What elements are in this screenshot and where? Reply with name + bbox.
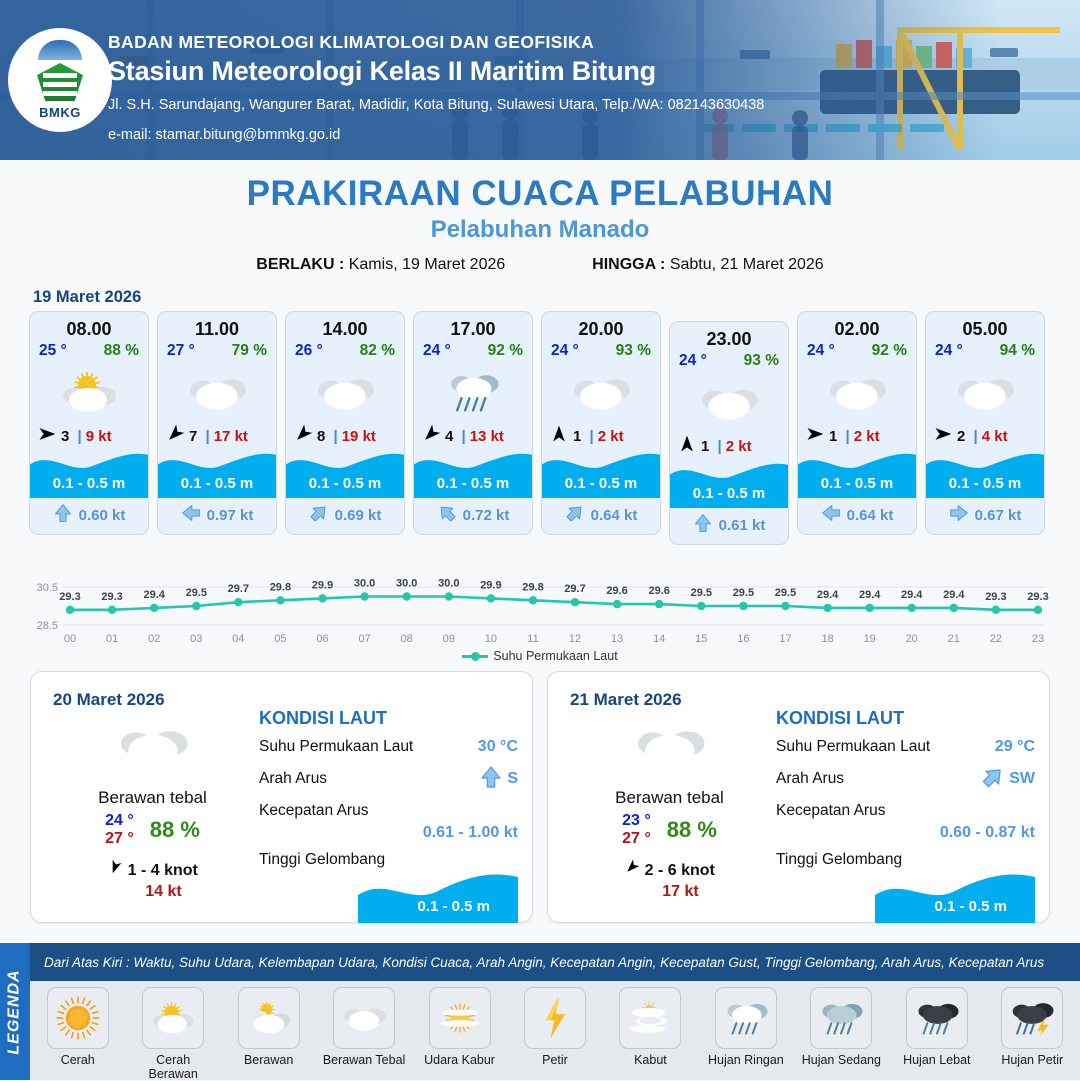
- card-gust: 2 kt: [726, 438, 752, 455]
- card-wave-height: 0.1 - 0.5 m: [926, 475, 1044, 492]
- svg-text:29.9: 29.9: [480, 579, 501, 591]
- southwest-arrow-icon: [309, 503, 329, 523]
- card-temperature: 25 °: [39, 342, 67, 360]
- card-humidity: 93 %: [744, 352, 779, 370]
- card-wind-row: 1 | 2 kt: [542, 422, 660, 452]
- legend-item-label: Udara Kabur: [417, 1053, 503, 1067]
- header-organization: BADAN METEOROLOGI KLIMATOLOGI DAN GEOFIS…: [108, 32, 764, 53]
- svg-text:29.6: 29.6: [648, 585, 669, 597]
- right-arrow-icon: [181, 503, 201, 527]
- daily-wave-label: Tinggi Gelombang: [259, 851, 385, 869]
- forecast-card[interactable]: 14.00 26 ° 82 % 8 | 19 kt 0.1 - 0.5 m: [285, 311, 405, 535]
- daily-date: 21 Maret 2026: [570, 690, 682, 710]
- daily-wave-box: 0.1 - 0.5 m: [776, 871, 1035, 923]
- svg-text:13: 13: [611, 633, 623, 645]
- daily-current-dir-row: Arah Arus S: [259, 765, 518, 793]
- card-wind-speed: 3: [61, 428, 69, 445]
- daily-current-dir-value-group: S: [479, 765, 518, 793]
- card-current-row: 0.69 kt: [286, 498, 404, 534]
- card-current-speed: 0.64 kt: [591, 507, 638, 524]
- card-wind-row: 1 | 2 kt: [798, 422, 916, 452]
- daily-sea-block: KONDISI LAUT Suhu Permukaan Laut 29 °C A…: [776, 708, 1035, 923]
- svg-text:29.3: 29.3: [985, 591, 1006, 603]
- card-temp-humidity: 26 ° 82 %: [286, 340, 404, 360]
- logo-label: BMKG: [39, 105, 81, 120]
- left-arrow-icon: [949, 503, 969, 523]
- legend-item-label: Hujan Sedang: [798, 1053, 884, 1067]
- north-arrow-icon: [677, 434, 697, 454]
- validity-row: BERLAKU : Kamis, 19 Maret 2026 HINGGA : …: [0, 256, 1080, 274]
- card-wind-separator: |: [201, 428, 209, 445]
- svg-text:15: 15: [695, 633, 707, 645]
- svg-text:08: 08: [401, 633, 413, 645]
- legend-item[interactable]: Hujan Ringan: [703, 987, 789, 1067]
- cloud-shape-icon: [954, 370, 1016, 414]
- card-temp-humidity: 24 ° 93 %: [670, 350, 788, 370]
- svg-text:29.5: 29.5: [691, 587, 712, 599]
- southeast-arrow-icon: [437, 503, 457, 527]
- card-current-row: 0.64 kt: [798, 498, 916, 534]
- legend-item-label: Petir: [512, 1053, 598, 1067]
- card-time: 02.00: [798, 312, 916, 340]
- svg-text:29.9: 29.9: [312, 579, 333, 591]
- card-current-speed: 0.67 kt: [975, 507, 1022, 524]
- valid-until-label: HINGGA :: [592, 256, 665, 273]
- sun-clouds-shape-icon: [246, 995, 292, 1041]
- daily-current-speed-value: 0.60 - 0.87 kt: [776, 824, 1035, 842]
- down-arrow-icon: [479, 765, 503, 793]
- svg-text:17: 17: [779, 633, 791, 645]
- forecast-card[interactable]: 02.00 24 ° 92 % 1 | 2 kt 0.1 - 0.5 m: [797, 311, 917, 535]
- svg-text:07: 07: [358, 633, 370, 645]
- daily-temp-column: 23 ° 27 °: [622, 812, 651, 849]
- legend-item-label: Berawan: [226, 1053, 312, 1067]
- chart-legend-marker-icon: [462, 655, 488, 658]
- card-temp-humidity: 27 ° 79 %: [158, 340, 276, 360]
- cloud-icon: [670, 372, 788, 432]
- svg-text:09: 09: [443, 633, 455, 645]
- svg-text:29.3: 29.3: [101, 591, 122, 603]
- daily-sst-row: Suhu Permukaan Laut 29 °C: [776, 738, 1035, 756]
- daily-temp-humidity: 24 ° 27 ° 88 %: [45, 812, 260, 849]
- daily-wind-range: 1 - 4 knot: [128, 862, 198, 879]
- card-wave-height: 0.1 - 0.5 m: [158, 475, 276, 492]
- daily-wave-row: Tinggi Gelombang: [776, 851, 1035, 869]
- card-current-row: 0.97 kt: [158, 498, 276, 534]
- svg-text:29.5: 29.5: [186, 587, 207, 599]
- card-temperature: 24 °: [423, 342, 451, 360]
- daily-sst-value: 29 °C: [995, 738, 1035, 756]
- cloud-shape-icon: [314, 370, 376, 414]
- daily-sst-label: Suhu Permukaan Laut: [259, 738, 413, 756]
- svg-text:29.4: 29.4: [817, 589, 839, 601]
- valid-from-label: BERLAKU :: [256, 256, 344, 273]
- card-time: 14.00: [286, 312, 404, 340]
- southwest-arrow-icon: [565, 503, 585, 527]
- east-arrow-icon: [933, 424, 953, 448]
- card-temp-humidity: 25 ° 88 %: [30, 340, 148, 360]
- east-arrow-icon: [805, 424, 825, 444]
- header-text-block: BADAN METEOROLOGI KLIMATOLOGI DAN GEOFIS…: [108, 32, 764, 147]
- lightning-icon: [524, 987, 586, 1049]
- daily-summary-row: 20 Maret 2026 Berawan tebal 24 ° 27 ° 88…: [0, 663, 1080, 923]
- right-arrow-icon: [181, 503, 201, 523]
- sst-chart: 30.528.529.30029.30129.40229.50329.70429…: [18, 557, 1062, 647]
- card-wind-separator: |: [841, 428, 849, 445]
- card-humidity: 79 %: [232, 342, 267, 360]
- card-wind-separator: |: [73, 428, 81, 445]
- daily-current-speed-row: Kecepatan Arus: [259, 802, 518, 820]
- chart-legend: Suhu Permukaan Laut: [0, 649, 1080, 663]
- card-wind-separator: |: [585, 428, 593, 445]
- rain-light-icon: [715, 987, 777, 1049]
- svg-text:18: 18: [821, 633, 833, 645]
- daily-humidity: 88 %: [667, 817, 717, 843]
- svg-text:11: 11: [527, 633, 538, 645]
- daily-sea-title: KONDISI LAUT: [776, 708, 1035, 729]
- legend-item[interactable]: Petir: [512, 987, 598, 1067]
- card-wave-box: 0.1 - 0.5 m: [798, 450, 916, 498]
- down-arrow-icon: [53, 503, 73, 523]
- legend-side-banner: LEGENDA: [0, 943, 30, 1080]
- legend-item[interactable]: Hujan Petir: [989, 987, 1075, 1067]
- card-gust: 9 kt: [86, 428, 112, 445]
- page-title: PRAKIRAAN CUACA PELABUHAN: [0, 174, 1080, 214]
- cloud-shape-icon: [341, 995, 387, 1041]
- svg-text:06: 06: [316, 633, 328, 645]
- sun-cloud-shape-icon: [150, 995, 196, 1041]
- legend-section: LEGENDA Dari Atas Kiri : Waktu, Suhu Uda…: [0, 943, 1080, 1080]
- card-wind-row: 8 | 19 kt: [286, 422, 404, 452]
- rain-heavy-shape-icon: [914, 995, 960, 1041]
- wave-shape-icon: [875, 871, 1035, 923]
- svg-text:20: 20: [906, 633, 918, 645]
- svg-text:30.5: 30.5: [37, 582, 58, 594]
- forecast-card[interactable]: 20.00 24 ° 93 % 1 | 2 kt 0.1 - 0.5 m: [541, 311, 661, 535]
- southwest-arrow-icon: [421, 424, 441, 448]
- svg-text:10: 10: [485, 633, 497, 645]
- daily-temp-column: 24 ° 27 °: [105, 812, 134, 849]
- card-current-speed: 0.72 kt: [463, 507, 510, 524]
- card-time: 11.00: [158, 312, 276, 340]
- forecast-card[interactable]: 23.00 24 ° 93 % 1 | 2 kt 0.1 - 0.5 m: [669, 321, 789, 545]
- daily-wave-row: Tinggi Gelombang: [259, 851, 518, 869]
- card-humidity: 94 %: [1000, 342, 1035, 360]
- legend-item[interactable]: Berawan Tebal: [321, 987, 407, 1067]
- daily-temp-max: 27 °: [622, 830, 651, 848]
- header-station-name: Stasiun Meteorologi Kelas II Maritim Bit…: [108, 56, 764, 87]
- haze-icon: [429, 987, 491, 1049]
- daily-wind-range: 2 - 6 knot: [645, 862, 715, 879]
- svg-text:30.0: 30.0: [354, 578, 375, 590]
- southwest-arrow-icon: [107, 860, 123, 879]
- legend-item-label: Cerah: [35, 1053, 121, 1067]
- legend-item[interactable]: Berawan: [226, 987, 312, 1067]
- cloud-icon: [158, 362, 276, 422]
- card-humidity: 92 %: [488, 342, 523, 360]
- down-arrow-icon: [53, 503, 73, 527]
- daily-wind-row: 1 - 4 knot: [45, 859, 260, 880]
- card-wind-row: 3 | 9 kt: [30, 422, 148, 452]
- card-current-speed: 0.60 kt: [79, 507, 126, 524]
- rain-light-shape-icon: [442, 370, 504, 414]
- daily-temp-min: 23 °: [622, 812, 651, 830]
- card-wind-separator: |: [329, 428, 337, 445]
- cloud-shape-icon: [570, 370, 632, 414]
- southwest-arrow-icon: [309, 503, 329, 527]
- card-wave-height: 0.1 - 0.5 m: [670, 485, 788, 502]
- daily-temp-humidity: 23 ° 27 ° 88 %: [562, 812, 777, 849]
- title-block: PRAKIRAAN CUACA PELABUHAN Pelabuhan Mana…: [0, 174, 1080, 274]
- lightning-shape-icon: [532, 995, 578, 1041]
- card-current-speed: 0.61 kt: [719, 517, 766, 534]
- daily-condition: Berawan tebal: [562, 788, 777, 808]
- sun-clouds-icon: [238, 987, 300, 1049]
- card-wave-height: 0.1 - 0.5 m: [542, 475, 660, 492]
- card-wind-row: 7 | 17 kt: [158, 422, 276, 452]
- daily-current-speed-value: 0.61 - 1.00 kt: [259, 824, 518, 842]
- southwest-arrow-icon: [165, 424, 185, 448]
- daily-current-speed-label: Kecepatan Arus: [259, 802, 368, 820]
- svg-text:29.6: 29.6: [606, 585, 627, 597]
- card-current-speed: 0.64 kt: [847, 507, 894, 524]
- card-wave-height: 0.1 - 0.5 m: [286, 475, 404, 492]
- card-wave-height: 0.1 - 0.5 m: [798, 475, 916, 492]
- card-temperature: 24 °: [679, 352, 707, 370]
- legend-item-label: Kabut: [607, 1053, 693, 1067]
- card-wind-speed: 2: [957, 428, 965, 445]
- svg-text:29.8: 29.8: [522, 581, 543, 593]
- svg-text:12: 12: [569, 633, 581, 645]
- daily-current-speed-label: Kecepatan Arus: [776, 802, 885, 820]
- left-arrow-icon: [949, 503, 969, 527]
- forecast-card[interactable]: 17.00 24 ° 92 % 4 | 13 kt 0.1 - 0.5 m: [413, 311, 533, 535]
- card-current-row: 0.67 kt: [926, 498, 1044, 534]
- east-arrow-icon: [805, 424, 825, 448]
- bmkg-logo: BMKG: [8, 28, 112, 132]
- card-current-row: 0.72 kt: [414, 498, 532, 534]
- card-time: 23.00: [670, 322, 788, 350]
- card-gust: 17 kt: [214, 428, 248, 445]
- southwest-arrow-icon: [107, 859, 123, 875]
- wave-shape-icon: [358, 871, 518, 923]
- cloud-thick-icon: [562, 720, 777, 772]
- rain-moderate-icon: [810, 987, 872, 1049]
- card-temperature: 24 °: [551, 342, 579, 360]
- card-current-row: 0.64 kt: [542, 498, 660, 534]
- daily-current-dir-label: Arah Arus: [259, 770, 327, 788]
- valid-until-value: Sabtu, 21 Maret 2026: [670, 256, 824, 273]
- southwest-arrow-icon: [293, 424, 313, 448]
- southwest-arrow-icon: [165, 424, 185, 444]
- east-arrow-icon: [933, 424, 953, 444]
- svg-text:16: 16: [737, 633, 749, 645]
- svg-text:14: 14: [653, 633, 665, 645]
- down-arrow-icon: [479, 765, 503, 789]
- cloud-icon: [798, 362, 916, 422]
- legend-item-label: Hujan Lebat: [894, 1053, 980, 1067]
- east-arrow-icon: [37, 424, 57, 444]
- cloud-shape-icon: [826, 370, 888, 414]
- card-temp-humidity: 24 ° 94 %: [926, 340, 1044, 360]
- sst-chart-svg: 30.528.529.30029.30129.40229.50329.70429…: [18, 557, 1062, 647]
- svg-text:03: 03: [190, 633, 202, 645]
- daily-humidity: 88 %: [150, 817, 200, 843]
- logo-pentagon-icon: [37, 63, 83, 101]
- daily-temp-max: 27 °: [105, 830, 134, 848]
- svg-text:29.7: 29.7: [564, 583, 585, 595]
- cloud-shape-icon: [186, 370, 248, 414]
- sun-cloud-icon: [142, 987, 204, 1049]
- valid-from-value: Kamis, 19 Maret 2026: [349, 256, 506, 273]
- southwest-arrow-icon: [293, 424, 313, 444]
- card-wind-separator: |: [713, 438, 721, 455]
- thunderstorm-shape-icon: [1009, 995, 1055, 1041]
- legend-item[interactable]: Udara Kabur: [417, 987, 503, 1067]
- legend-note: Dari Atas Kiri : Waktu, Suhu Udara, Kele…: [30, 955, 1044, 970]
- svg-text:29.4: 29.4: [143, 589, 165, 601]
- card-temp-humidity: 24 ° 92 %: [414, 340, 532, 360]
- svg-text:29.5: 29.5: [733, 587, 754, 599]
- page-subtitle: Pelabuhan Manado: [0, 216, 1080, 244]
- card-current-row: 0.60 kt: [30, 498, 148, 534]
- daily-sea-title: KONDISI LAUT: [259, 708, 518, 729]
- right-arrow-icon: [821, 503, 841, 523]
- card-temperature: 24 °: [807, 342, 835, 360]
- legend-item-label: Hujan Ringan: [703, 1053, 789, 1067]
- daily-condition: Berawan tebal: [45, 788, 260, 808]
- svg-text:00: 00: [64, 633, 76, 645]
- daily-sst-value: 30 °C: [478, 738, 518, 756]
- card-wind-speed: 1: [701, 438, 709, 455]
- card-current-speed: 0.69 kt: [335, 507, 382, 524]
- southwest-arrow-icon: [624, 860, 640, 879]
- southwest-arrow-icon: [624, 859, 640, 875]
- sun-cloud-icon: [30, 362, 148, 422]
- east-arrow-icon: [37, 424, 57, 448]
- forecast-card[interactable]: 08.00 25 ° 88 % 3 | 9 kt 0.1 - 0.5 m: [29, 311, 149, 535]
- legend-item-label: Berawan Tebal: [321, 1053, 407, 1067]
- card-time: 08.00: [30, 312, 148, 340]
- card-temperature: 26 °: [295, 342, 323, 360]
- card-wind-speed: 1: [829, 428, 837, 445]
- daily-current-dir-row: Arah Arus SW: [776, 765, 1035, 793]
- daily-sst-row: Suhu Permukaan Laut 30 °C: [259, 738, 518, 756]
- thunderstorm-icon: [1001, 987, 1063, 1049]
- svg-text:29.3: 29.3: [59, 591, 80, 603]
- fog-shape-icon: [627, 995, 673, 1041]
- card-wave-box: 0.1 - 0.5 m: [414, 450, 532, 498]
- sun-icon: [47, 987, 109, 1049]
- southwest-arrow-icon: [421, 424, 441, 444]
- card-wave-box: 0.1 - 0.5 m: [286, 450, 404, 498]
- daily-wave-value: 0.1 - 0.5 m: [934, 898, 1007, 915]
- legend-item[interactable]: Hujan Lebat: [894, 987, 980, 1067]
- card-wave-height: 0.1 - 0.5 m: [30, 475, 148, 492]
- legend-item[interactable]: Hujan Sedang: [798, 987, 884, 1067]
- daily-wave-label: Tinggi Gelombang: [776, 851, 902, 869]
- card-temperature: 27 °: [167, 342, 195, 360]
- fog-icon: [619, 987, 681, 1049]
- legend-item-list: Cerah Cerah Berawan Berawan Berawan Teba…: [30, 981, 1080, 1080]
- card-wave-box: 0.1 - 0.5 m: [30, 450, 148, 498]
- rain-moderate-shape-icon: [818, 995, 864, 1041]
- southwest-arrow-icon: [981, 765, 1005, 793]
- card-gust: 2 kt: [598, 428, 624, 445]
- forecast-card-list: 08.00 25 ° 88 % 3 | 9 kt 0.1 - 0.5 m: [0, 311, 1080, 545]
- daily-summary-card[interactable]: 21 Maret 2026 Berawan tebal 23 ° 27 ° 88…: [547, 671, 1050, 923]
- rain-light-shape-icon: [723, 995, 769, 1041]
- svg-text:22: 22: [990, 633, 1002, 645]
- forecast-card[interactable]: 11.00 27 ° 79 % 7 | 17 kt 0.1 - 0.5 m: [157, 311, 277, 535]
- daily-summary-card[interactable]: 20 Maret 2026 Berawan tebal 24 ° 27 ° 88…: [30, 671, 533, 923]
- card-wind-speed: 8: [317, 428, 325, 445]
- card-temperature: 24 °: [935, 342, 963, 360]
- card-wind-speed: 7: [189, 428, 197, 445]
- legend-item[interactable]: Cerah: [35, 987, 121, 1067]
- card-wind-speed: 4: [445, 428, 453, 445]
- card-temp-humidity: 24 ° 92 %: [798, 340, 916, 360]
- svg-text:02: 02: [148, 633, 160, 645]
- card-humidity: 92 %: [872, 342, 907, 360]
- card-wave-box: 0.1 - 0.5 m: [158, 450, 276, 498]
- cloud-shape-icon: [116, 721, 190, 771]
- card-time: 17.00: [414, 312, 532, 340]
- svg-text:28.5: 28.5: [37, 620, 58, 632]
- daily-gust: 17 kt: [584, 883, 777, 901]
- north-arrow-icon: [549, 424, 569, 444]
- card-wind-row: 1 | 2 kt: [670, 432, 788, 462]
- legend-item-label: Cerah Berawan: [130, 1053, 216, 1081]
- legend-item[interactable]: Cerah Berawan: [130, 987, 216, 1081]
- legend-item-label: Hujan Petir: [989, 1053, 1075, 1067]
- daily-gust: 14 kt: [67, 883, 260, 901]
- cloud-shape-icon: [698, 380, 760, 424]
- card-current-speed: 0.97 kt: [207, 507, 254, 524]
- southwest-arrow-icon: [565, 503, 585, 523]
- svg-text:30.0: 30.0: [438, 578, 459, 590]
- svg-text:29.4: 29.4: [901, 589, 923, 601]
- chart-legend-label: Suhu Permukaan Laut: [493, 649, 617, 663]
- cloud-icon: [542, 362, 660, 422]
- card-wind-row: 2 | 4 kt: [926, 422, 1044, 452]
- card-temp-humidity: 24 ° 93 %: [542, 340, 660, 360]
- forecast-card[interactable]: 05.00 24 ° 94 % 2 | 4 kt 0.1 - 0.5 m: [925, 311, 1045, 535]
- forecast-date-label: 19 Maret 2026: [33, 288, 1080, 307]
- sun-shape-icon: [55, 995, 101, 1041]
- card-time: 05.00: [926, 312, 1044, 340]
- card-gust: 13 kt: [470, 428, 504, 445]
- card-humidity: 88 %: [104, 342, 139, 360]
- card-current-row: 0.61 kt: [670, 508, 788, 544]
- legend-item[interactable]: Kabut: [607, 987, 693, 1067]
- rain-light-icon: [414, 362, 532, 422]
- cloud-icon: [926, 362, 1044, 422]
- logo-arc-icon: [38, 40, 82, 60]
- svg-text:01: 01: [106, 633, 118, 645]
- daily-date: 20 Maret 2026: [53, 690, 165, 710]
- daily-current-dir-value: S: [507, 770, 518, 788]
- north-arrow-icon: [549, 424, 569, 448]
- daily-wind-row: 2 - 6 knot: [562, 859, 777, 880]
- southwest-arrow-icon: [981, 765, 1005, 789]
- daily-current-dir-value: SW: [1009, 770, 1035, 788]
- card-wave-box: 0.1 - 0.5 m: [670, 460, 788, 508]
- cloud-icon: [286, 362, 404, 422]
- cloud-shape-icon: [633, 721, 707, 771]
- svg-text:30.0: 30.0: [396, 578, 417, 590]
- daily-left-block: Berawan tebal 23 ° 27 ° 88 % 2 - 6 knot …: [562, 720, 777, 901]
